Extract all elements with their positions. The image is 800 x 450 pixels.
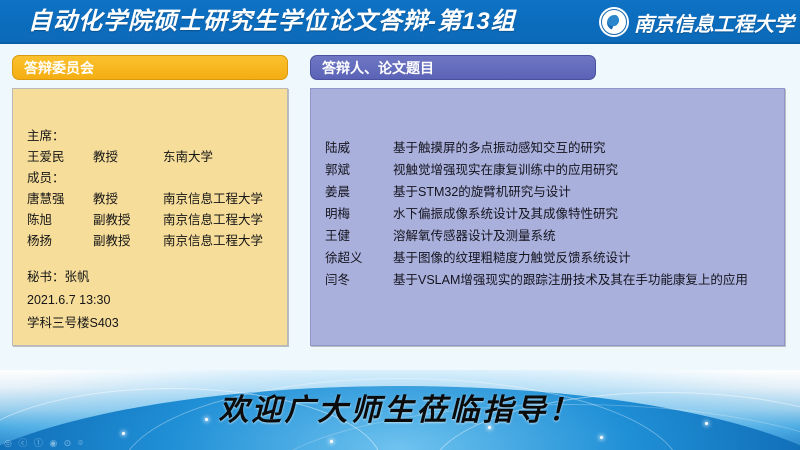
university-name: 南京信息工程大学 xyxy=(634,8,794,37)
list-item: 陆威 基于触摸屏的多点振动感知交互的研究 xyxy=(325,137,780,159)
slide-header-band: 自动化学院硕士研究生学位论文答辩-第13组 南京信息工程大学 xyxy=(0,0,800,44)
member-org: 南京信息工程大学 xyxy=(163,189,281,210)
thesis-title: 基于触摸屏的多点振动感知交互的研究 xyxy=(393,137,780,159)
member-name: 杨扬 xyxy=(27,231,93,252)
thesis-title: 基于VSLAM增强现实的跟踪注册技术及其在手功能康复上的应用 xyxy=(393,269,780,291)
chair-label: 主席： xyxy=(27,126,281,147)
list-item: 闫冬 基于VSLAM增强现实的跟踪注册技术及其在手功能康复上的应用 xyxy=(325,269,780,291)
sparkle-dot-icon xyxy=(600,436,603,439)
member-org: 东南大学 xyxy=(163,147,281,168)
committee-panel-title: 答辩委员会 xyxy=(24,58,94,78)
thesis-list: 陆威 基于触摸屏的多点振动感知交互的研究 郭斌 视触觉增强现实在康复训练中的应用… xyxy=(325,137,780,291)
emblem-ring xyxy=(601,9,627,35)
committee-panel-header: 答辩委员会 xyxy=(12,55,288,80)
thesis-panel-body: 陆威 基于触摸屏的多点振动感知交互的研究 郭斌 视触觉增强现实在康复训练中的应用… xyxy=(310,88,785,346)
member-title: 副教授 xyxy=(93,210,163,231)
member-title: 教授 xyxy=(93,189,163,210)
committee-row: 唐慧强 教授 南京信息工程大学 xyxy=(27,189,281,210)
defense-datetime: 2021.6.7 13:30 xyxy=(27,289,281,312)
banner-corner-marks: ◎ ⓒ ⓛ ◉ ⊙ ⌾ xyxy=(4,436,85,449)
thesis-title: 视触觉增强现实在康复训练中的应用研究 xyxy=(393,159,780,181)
list-item: 王健 溶解氧传感器设计及测量系统 xyxy=(325,225,780,247)
member-title: 副教授 xyxy=(93,231,163,252)
list-item: 徐超义 基于图像的纹理粗糙度力触觉反馈系统设计 xyxy=(325,247,780,269)
list-item: 郭斌 视触觉增强现实在康复训练中的应用研究 xyxy=(325,159,780,181)
committee-row: 陈旭 副教授 南京信息工程大学 xyxy=(27,210,281,231)
list-item: 明梅 水下偏振成像系统设计及其成像特性研究 xyxy=(325,203,780,225)
student-name: 王健 xyxy=(325,225,393,247)
thesis-panel-title: 答辩人、论文题目 xyxy=(322,58,434,78)
student-name: 闫冬 xyxy=(325,269,393,291)
welcome-text: 欢迎广大师生莅临指导！ xyxy=(0,392,800,430)
members-label: 成员： xyxy=(27,168,281,189)
student-name: 郭斌 xyxy=(325,159,393,181)
list-item: 姜晨 基于STM32的旋臂机研究与设计 xyxy=(325,181,780,203)
committee-row-chair: 王爱民 教授 东南大学 xyxy=(27,147,281,168)
thesis-title: 基于图像的纹理粗糙度力触觉反馈系统设计 xyxy=(393,247,780,269)
student-name: 姜晨 xyxy=(325,181,393,203)
member-title: 教授 xyxy=(93,147,163,168)
member-name: 陈旭 xyxy=(27,210,93,231)
sparkle-dot-icon xyxy=(122,432,125,435)
thesis-panel-header: 答辩人、论文题目 xyxy=(310,55,596,80)
secretary-line: 秘书：张帆 xyxy=(27,266,281,289)
thesis-title: 水下偏振成像系统设计及其成像特性研究 xyxy=(393,203,780,225)
member-name: 唐慧强 xyxy=(27,189,93,210)
spacer xyxy=(27,252,281,266)
student-name: 明梅 xyxy=(325,203,393,225)
thesis-title: 溶解氧传感器设计及测量系统 xyxy=(393,225,780,247)
committee-panel-body: 主席： 王爱民 教授 东南大学 成员： 唐慧强 教授 南京信息工程大学 陈旭 副… xyxy=(12,88,288,346)
university-logo: 南京信息工程大学 xyxy=(599,5,794,39)
emblem-swirl-icon xyxy=(607,15,622,30)
student-name: 陆威 xyxy=(325,137,393,159)
member-org: 南京信息工程大学 xyxy=(163,231,281,252)
member-org: 南京信息工程大学 xyxy=(163,210,281,231)
presentation-slide: 自动化学院硕士研究生学位论文答辩-第13组 南京信息工程大学 答辩委员会 主席：… xyxy=(0,0,800,450)
university-emblem-icon xyxy=(599,7,629,37)
thesis-title: 基于STM32的旋臂机研究与设计 xyxy=(393,181,780,203)
committee-list: 主席： 王爱民 教授 东南大学 成员： 唐慧强 教授 南京信息工程大学 陈旭 副… xyxy=(27,126,281,335)
defense-location: 学科三号楼S403 xyxy=(27,312,281,335)
member-name: 王爱民 xyxy=(27,147,93,168)
sparkle-dot-icon xyxy=(330,440,333,443)
student-name: 徐超义 xyxy=(325,247,393,269)
page-title: 自动化学院硕士研究生学位论文答辩-第13组 xyxy=(28,7,516,37)
welcome-banner: 欢迎广大师生莅临指导！ ◎ ⓒ ⓛ ◉ ⊙ ⌾ xyxy=(0,370,800,450)
committee-row: 杨扬 副教授 南京信息工程大学 xyxy=(27,231,281,252)
